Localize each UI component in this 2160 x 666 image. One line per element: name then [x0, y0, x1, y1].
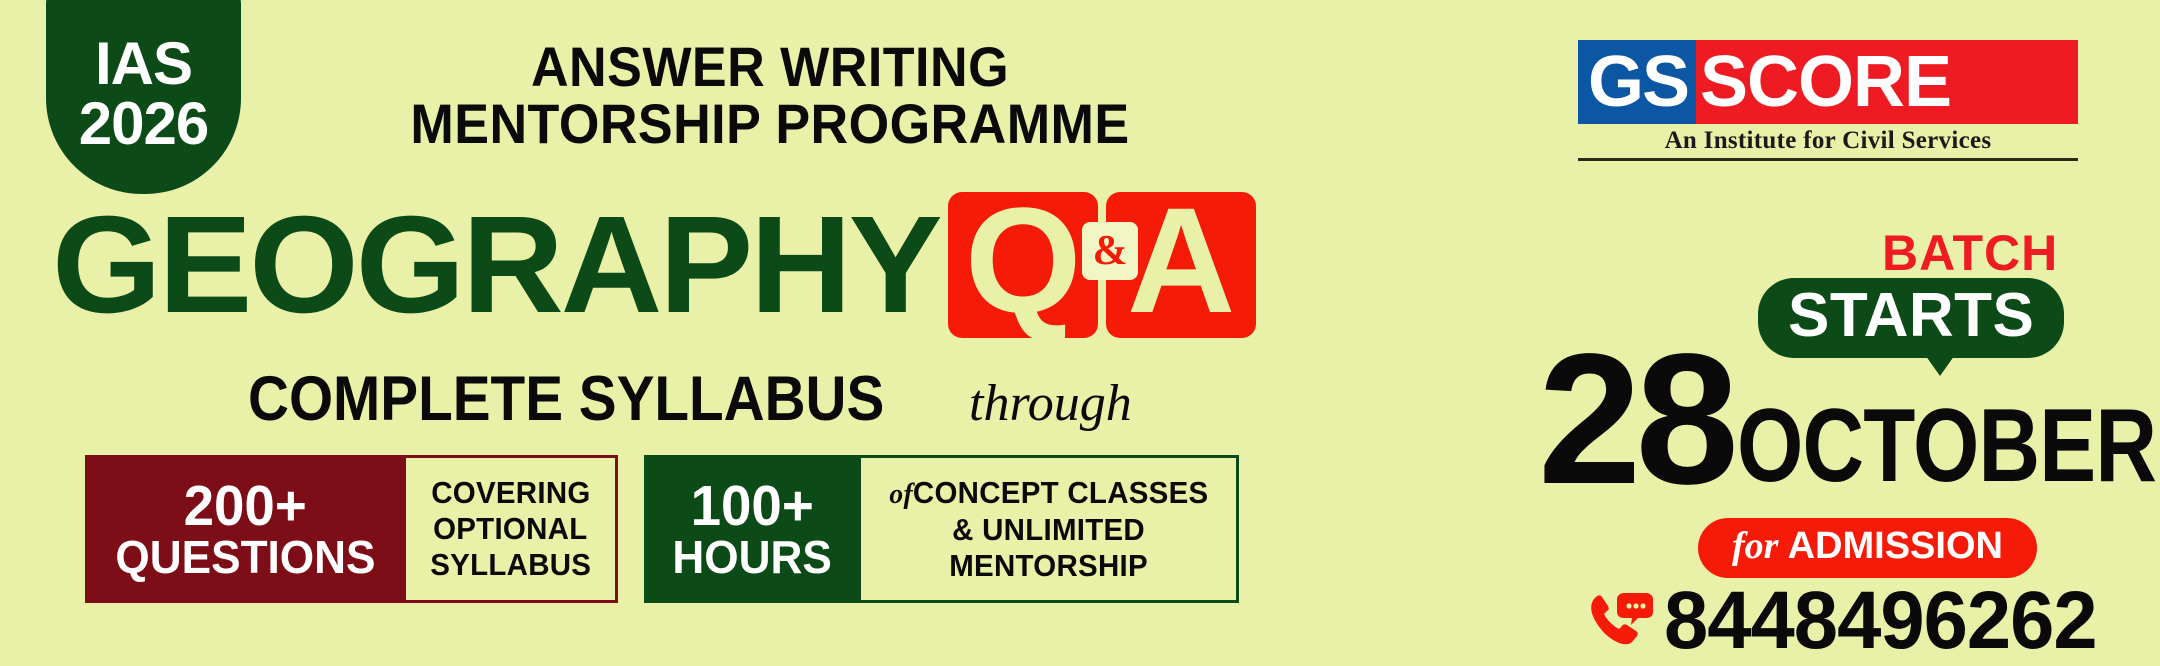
admission-prefix: for: [1732, 525, 1778, 567]
hours-number: 100+: [691, 478, 814, 534]
batch-start-date: 28 OCTOBER: [1538, 336, 2160, 504]
hours-word: HOURS: [673, 534, 832, 581]
promo-banner: IAS 2026 ANSWER WRITING MENTORSHIP PROGR…: [0, 0, 2160, 640]
questions-desc-line-1: COVERING: [431, 475, 590, 511]
qa-logo: Q & A: [948, 192, 1256, 338]
batch-info-panel: BATCH STARTS 28 OCTOBER for ADMISSION 84…: [1530, 228, 2130, 628]
hours-count-box: 100+ HOURS: [647, 458, 857, 600]
hours-desc-line-1: ofCONCEPT CLASSES: [889, 475, 1208, 512]
headline-line-2: MENTORSHIP PROGRAMME: [352, 95, 1189, 152]
questions-count-box: 200+ QUESTIONS: [88, 458, 403, 600]
batch-date-day: 28: [1538, 336, 1733, 504]
programme-headline: ANSWER WRITING MENTORSHIP PROGRAMME: [320, 38, 1220, 152]
logo-underline-rule: [1578, 158, 2078, 161]
questions-word: QUESTIONS: [115, 534, 375, 581]
logo-gs-block: GS: [1578, 40, 1696, 124]
qa-ampersand: &: [1082, 222, 1138, 280]
admission-cta-pill[interactable]: for ADMISSION: [1698, 518, 2037, 578]
questions-desc-line-3: SYLLABUS: [430, 547, 591, 583]
qa-a-letter: A: [1127, 192, 1235, 335]
gs-score-logo: GS SCORE An Institute for Civil Services: [1578, 40, 2078, 161]
admission-label: ADMISSION: [1788, 525, 2003, 567]
qa-q-box: Q: [948, 192, 1098, 338]
subtitle-main: COMPLETE SYLLABUS: [248, 368, 884, 431]
hours-description-box: ofCONCEPT CLASSES & UNLIMITED MENTORSHIP: [858, 458, 1237, 600]
qa-q-letter: Q: [965, 192, 1082, 335]
ias-year-badge: IAS 2026: [46, 0, 241, 194]
hours-desc-line-2: & UNLIMITED: [952, 512, 1145, 548]
hours-desc-text-1: CONCEPT CLASSES: [912, 475, 1208, 510]
badge-line-ias: IAS: [95, 35, 192, 93]
logo-score-block: SCORE: [1696, 40, 2078, 124]
subtitle-connector: through: [969, 378, 1132, 430]
logo-tagline: An Institute for Civil Services: [1578, 127, 2078, 155]
questions-desc-line-2: OPTIONAL: [433, 511, 587, 547]
badge-line-year: 2026: [79, 93, 208, 155]
subject-title-row: GEOGRAPHY Q & A: [52, 192, 1256, 338]
batch-label: BATCH: [1882, 228, 2058, 278]
contact-phone-number: 8448496262: [1664, 580, 2097, 662]
feature-boxes: 200+ QUESTIONS COVERING OPTIONAL SYLLABU…: [85, 455, 1239, 603]
phone-chat-icon: [1586, 589, 1656, 653]
hours-desc-line-3: MENTORSHIP: [949, 548, 1148, 584]
subject-title: GEOGRAPHY: [52, 196, 940, 334]
feature-box-questions: 200+ QUESTIONS COVERING OPTIONAL SYLLABU…: [85, 455, 618, 603]
questions-description-box: COVERING OPTIONAL SYLLABUS: [403, 458, 615, 600]
contact-phone-row[interactable]: 8448496262: [1586, 580, 2110, 662]
batch-date-month: OCTOBER: [1737, 394, 2156, 504]
questions-number: 200+: [184, 478, 307, 534]
syllabus-subtitle: COMPLETE SYLLABUS through: [248, 368, 1132, 431]
logo-blocks: GS SCORE: [1578, 40, 2078, 124]
headline-line-1: ANSWER WRITING: [352, 38, 1189, 95]
feature-box-hours: 100+ HOURS ofCONCEPT CLASSES & UNLIMITED…: [644, 455, 1239, 603]
hours-desc-prefix: of: [889, 478, 913, 510]
